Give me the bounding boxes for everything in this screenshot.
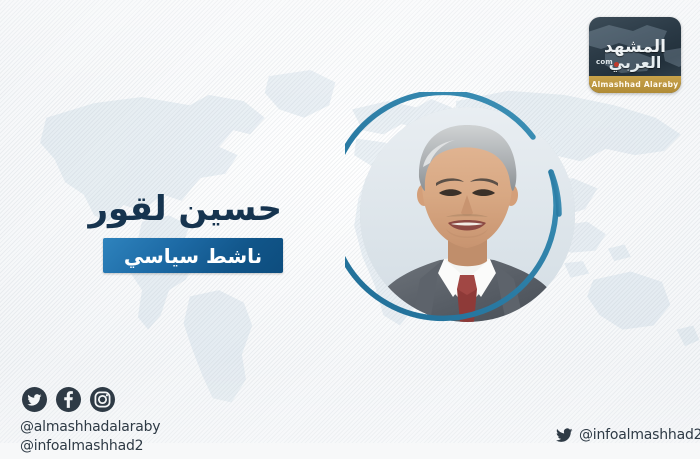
logo-caption: Almashhad Alaraby <box>589 76 681 93</box>
logo-dot-icon <box>614 62 619 67</box>
twitter-icon[interactable] <box>22 387 47 412</box>
portrait-photo <box>360 107 575 322</box>
social-handles: @almashhadalaraby @infoalmashhad2 <box>20 418 160 456</box>
logo-com-label: com <box>596 58 613 66</box>
channel-logo[interactable]: المشهد العربي com Almashhad Alaraby <box>589 17 681 93</box>
person-title-text: ناشط سياسي <box>124 245 262 267</box>
instagram-icon[interactable] <box>90 387 115 412</box>
corner-handle-text: @infoalmashhad2 <box>579 427 700 443</box>
person-name: حسين لقور <box>22 189 282 229</box>
logo-arabic-text: المشهد العربي <box>589 39 681 71</box>
twitter-bird-icon <box>556 428 573 443</box>
corner-social-handle: @infoalmashhad2 <box>556 427 700 443</box>
social-handle-primary: @almashhadalaraby <box>20 418 160 437</box>
social-handle-secondary: @infoalmashhad2 <box>20 437 160 456</box>
portrait-illustration <box>360 107 575 322</box>
person-title-badge: ناشط سياسي <box>103 238 283 273</box>
portrait-block <box>345 92 590 337</box>
social-icon-row <box>22 387 115 412</box>
broadcast-lower-third-card: المشهد العربي com Almashhad Alaraby <box>0 0 700 459</box>
facebook-icon[interactable] <box>56 387 81 412</box>
